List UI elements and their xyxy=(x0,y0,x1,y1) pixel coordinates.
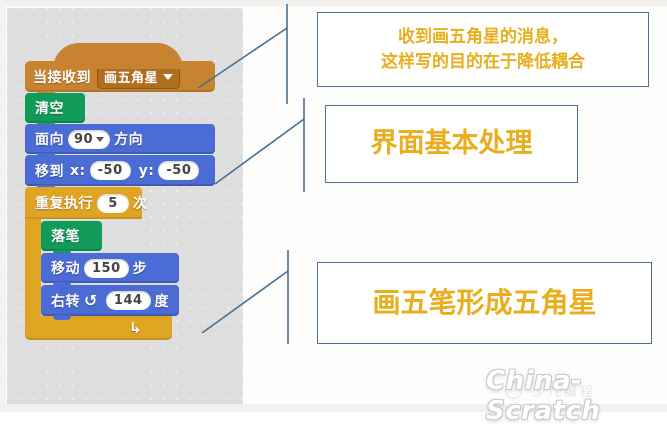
annotation-note-2-line-1: 界面基本处理 xyxy=(371,124,533,163)
input-direction-value: 90 xyxy=(74,132,93,147)
annotation-note-1-line-2: 这样写的目的在于降低耦合 xyxy=(381,50,585,75)
block-label-turn-prefix: 右转 xyxy=(51,291,80,311)
turn-clockwise-icon: ↺ xyxy=(84,291,98,310)
block-label-point-in-direction-suffix: 方向 xyxy=(114,129,143,149)
block-label-x: x: xyxy=(70,163,86,179)
input-degrees-value: 144 xyxy=(114,293,143,308)
block-label-repeat-suffix: 次 xyxy=(133,193,148,213)
block-label-repeat-prefix: 重复执行 xyxy=(35,193,93,213)
block-label-y: y: xyxy=(139,163,155,179)
block-label-when-i-receive: 当接收到 xyxy=(33,67,91,87)
block-clear[interactable]: 清空 xyxy=(25,93,85,123)
block-repeat-footer[interactable]: ↲ xyxy=(25,316,172,340)
annotation-note-message-received: 收到画五角星的消息， 这样写的目的在于降低耦合 xyxy=(317,12,649,87)
input-steps-value: 150 xyxy=(92,261,121,276)
block-repeat-spine xyxy=(25,219,41,316)
page-edge-top xyxy=(0,0,667,6)
block-label-turn-suffix: 度 xyxy=(155,291,170,311)
page-edge-left xyxy=(0,0,6,412)
loop-arrow-icon: ↲ xyxy=(129,319,142,337)
input-steps[interactable]: 150 xyxy=(84,259,129,278)
input-degrees[interactable]: 144 xyxy=(106,291,151,310)
input-repeat-count-value: 5 xyxy=(108,196,118,211)
block-label-point-in-direction-prefix: 面向 xyxy=(35,129,64,149)
chevron-down-icon xyxy=(163,74,173,80)
block-move-steps[interactable]: 移动 150 步 xyxy=(41,253,179,283)
block-turn-right[interactable]: 右转 ↺ 144 度 xyxy=(41,285,179,316)
block-pen-down[interactable]: 落笔 xyxy=(41,221,102,251)
block-label-clear: 清空 xyxy=(35,98,64,118)
block-go-to-xy[interactable]: 移到 x: -50 y: -50 xyxy=(25,155,215,186)
block-repeat-children[interactable]: 落笔 移动 150 步 右转 xyxy=(41,219,179,316)
block-stack[interactable]: 当接收到 画五角星 清空 面向 90 方向 xyxy=(25,61,215,340)
input-direction[interactable]: 90 xyxy=(68,130,110,149)
annotation-note-1-line-1: 收到画五角星的消息， xyxy=(381,25,585,50)
scratch-script-canvas[interactable]: 当接收到 画五角星 清空 面向 90 方向 xyxy=(7,8,243,404)
block-label-go-to: 移到 xyxy=(35,161,64,181)
block-when-i-receive[interactable]: 当接收到 画五角星 xyxy=(25,61,215,92)
block-label-move-prefix: 移动 xyxy=(51,258,80,278)
block-notch xyxy=(53,315,71,320)
input-x[interactable]: -50 xyxy=(90,161,131,180)
hat-dome xyxy=(53,43,183,69)
input-y[interactable]: -50 xyxy=(158,161,199,180)
input-y-value: -50 xyxy=(166,163,191,178)
page-root: 当接收到 画五角星 清空 面向 90 方向 xyxy=(0,0,667,412)
watermark-china-scratch: China-Scratch xyxy=(486,366,667,426)
block-point-in-direction[interactable]: 面向 90 方向 xyxy=(25,124,215,154)
annotation-note-ui-basic-setup: 界面基本处理 xyxy=(325,105,578,183)
block-repeat[interactable]: 重复执行 5 次 落笔 移动 xyxy=(25,187,215,340)
input-x-value: -50 xyxy=(98,163,123,178)
chevron-down-icon xyxy=(96,137,104,142)
block-label-pen-down: 落笔 xyxy=(51,226,80,246)
block-repeat-body: 落笔 移动 150 步 右转 xyxy=(25,219,215,316)
input-repeat-count[interactable]: 5 xyxy=(97,194,129,213)
block-repeat-header[interactable]: 重复执行 5 次 xyxy=(25,187,142,219)
block-label-move-suffix: 步 xyxy=(133,258,148,278)
annotation-note-draw-star: 画五笔形成五角星 xyxy=(317,262,652,344)
dropdown-message-value: 画五角星 xyxy=(104,67,158,86)
annotation-note-3-line-1: 画五笔形成五角星 xyxy=(372,283,596,324)
